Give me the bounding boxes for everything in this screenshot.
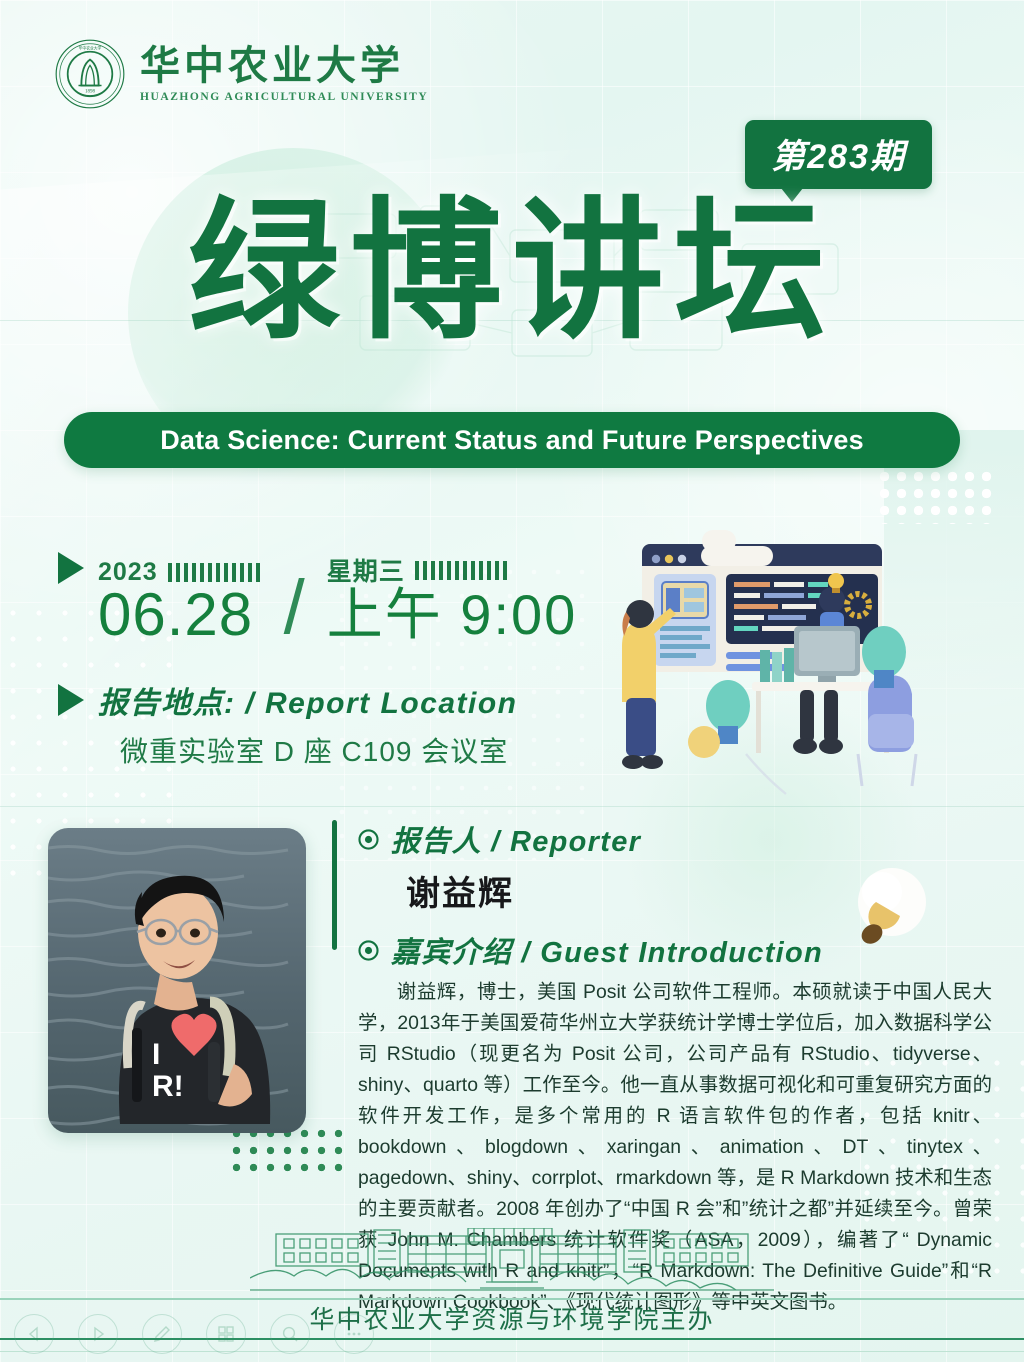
date-column: 2023 06.28 [98, 558, 262, 647]
issue-number-badge: 第283期 [745, 120, 932, 189]
dot-pattern-under-subtitle [876, 468, 996, 524]
university-header: 1898 华中农业大学 华中农业大学 HUAZHONG AGRICULTURAL… [54, 38, 428, 110]
overlay-toolbar[interactable] [14, 1314, 374, 1354]
speaker-portrait-image: I R! [48, 828, 306, 1133]
speaker-portrait: I R! [48, 828, 306, 1133]
campus-building-line-art [250, 1228, 774, 1296]
schedule-row: 2023 06.28 / 星期三 上午 9:00 [58, 552, 577, 647]
target-bullet-icon [358, 829, 379, 850]
location-heading: 报告地点: / Report Location [98, 678, 518, 722]
reporter-name: 谢益辉 [406, 866, 980, 915]
svg-text:1898: 1898 [85, 89, 96, 95]
time-column: 星期三 上午 9:00 [327, 552, 578, 647]
schedule-separator: / [284, 574, 305, 642]
back-arrow-icon[interactable] [14, 1314, 54, 1354]
barcode-decoration-left [168, 563, 262, 582]
svg-text:R!: R! [152, 1070, 184, 1103]
page-title: 绿博讲坛 [0, 196, 1024, 348]
university-seal-icon: 1898 华中农业大学 [54, 38, 126, 110]
pen-icon[interactable] [142, 1314, 182, 1354]
reporter-label: 报告人 / Reporter [391, 818, 641, 860]
svg-text:I: I [152, 1038, 160, 1071]
location-value: 微重实验室 D 座 C109 会议室 [120, 730, 508, 770]
barcode-decoration-right [415, 561, 509, 580]
university-name-cn: 华中农业大学 [140, 45, 428, 87]
reporter-label-row: 报告人 / Reporter [358, 818, 980, 860]
schedule-time: 上午 9:00 [327, 584, 578, 647]
lecture-subtitle-bar: Data Science: Current Status and Future … [64, 412, 960, 468]
triangle-bullet-icon [58, 552, 84, 584]
poster-root: 1898 华中农业大学 华中农业大学 HUAZHONG AGRICULTURAL… [0, 0, 1024, 1362]
play-icon[interactable] [78, 1314, 118, 1354]
data-science-workspace-illustration [596, 530, 996, 800]
location-row: 报告地点: / Report Location [58, 678, 518, 722]
intro-label: 嘉宾介绍 / Guest Introduction [391, 929, 823, 971]
schedule-date: 06.28 [98, 583, 262, 647]
more-icon[interactable] [334, 1314, 374, 1354]
triangle-bullet-icon-location [58, 684, 84, 716]
university-name-en: HUAZHONG AGRICULTURAL UNIVERSITY [140, 91, 428, 103]
target-bullet-icon-intro [358, 940, 379, 961]
svg-text:华中农业大学: 华中农业大学 [79, 46, 102, 51]
grid-icon[interactable] [206, 1314, 246, 1354]
lecture-subtitle-text: Data Science: Current Status and Future … [160, 425, 864, 456]
search-icon[interactable] [270, 1314, 310, 1354]
intro-label-row: 嘉宾介绍 / Guest Introduction [358, 929, 980, 971]
